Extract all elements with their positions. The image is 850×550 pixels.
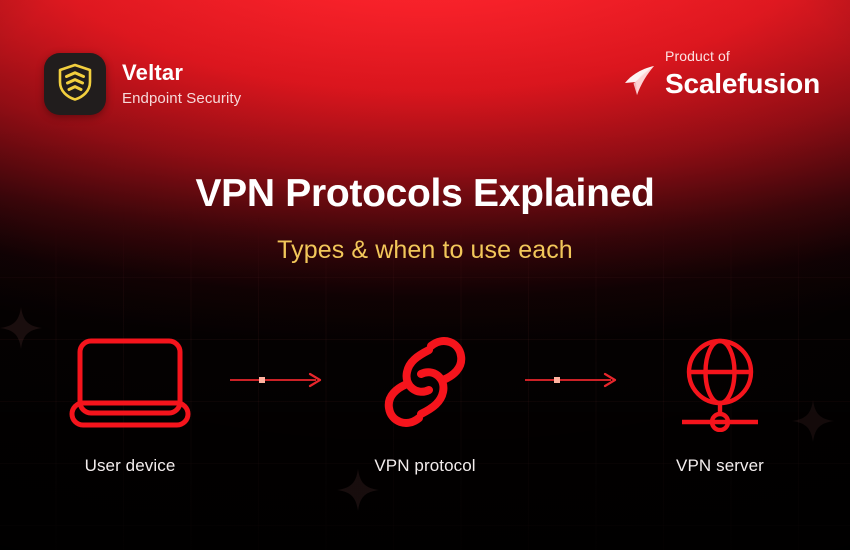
flow-node-vpn-server: VPN server [640, 330, 800, 476]
brand-lockup: Veltar Endpoint Security [44, 53, 241, 115]
flow-node-user-device: User device [50, 330, 210, 476]
chain-link-icon [373, 330, 477, 434]
poster-canvas: Veltar Endpoint Security Product of Scal… [0, 0, 850, 550]
vpn-flow-diagram: User device [0, 330, 850, 476]
scalefusion-row: Scalefusion [623, 65, 820, 102]
globe-network-icon [668, 330, 772, 434]
flow-node-label: VPN protocol [374, 456, 475, 476]
flow-node-label: User device [85, 456, 176, 476]
product-of-label: Product of [665, 48, 730, 64]
brand-name: Veltar [122, 62, 241, 84]
scalefusion-name: Scalefusion [665, 68, 820, 100]
flow-node-vpn-protocol: VPN protocol [345, 330, 505, 476]
brand-text: Veltar Endpoint Security [122, 62, 241, 106]
product-of-lockup: Product of Scalefusion [623, 48, 820, 102]
paper-plane-icon [623, 65, 657, 102]
flow-connector-1 [210, 330, 345, 434]
laptop-icon [68, 330, 192, 434]
flow-node-label: VPN server [676, 456, 764, 476]
flow-connector-2 [505, 330, 640, 434]
veltar-logo-badge [44, 53, 106, 115]
arrow-right-icon [523, 370, 623, 395]
page-subtitle: Types & when to use each [0, 236, 850, 265]
arrow-right-icon [228, 370, 328, 395]
brand-tagline: Endpoint Security [122, 91, 241, 106]
page-title: VPN Protocols Explained [0, 172, 850, 216]
shield-chevrons-icon [58, 63, 92, 106]
